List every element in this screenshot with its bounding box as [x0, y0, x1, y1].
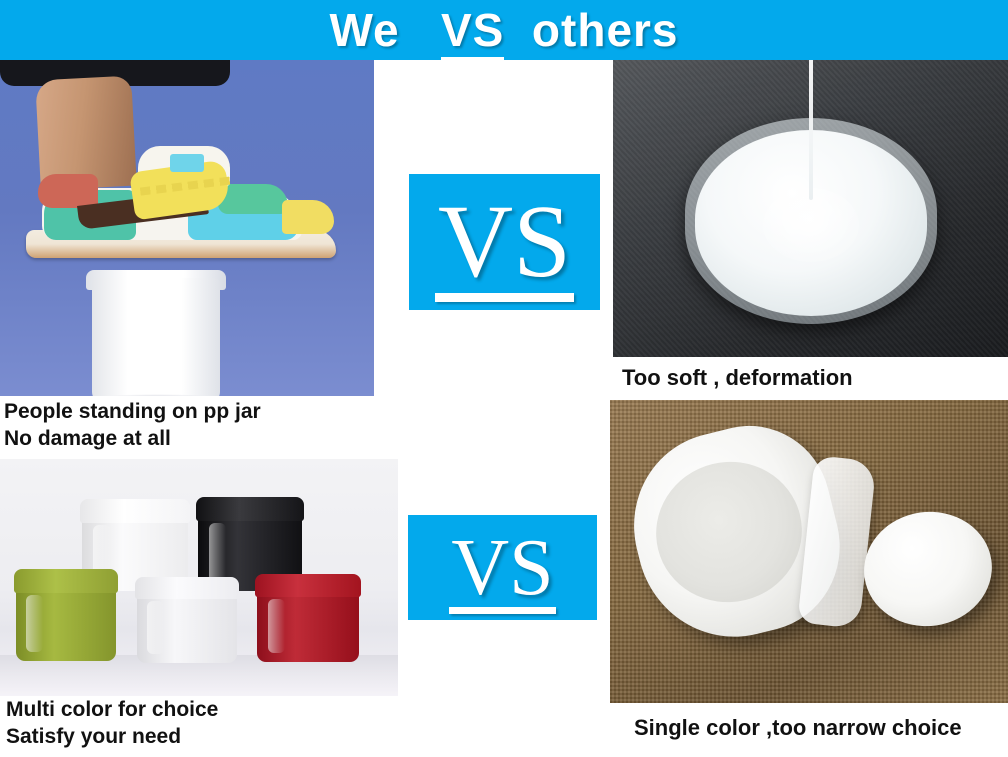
jar-olive	[14, 569, 118, 661]
title-others: others	[532, 4, 679, 56]
jar-red-shine	[268, 599, 285, 654]
sneaker-shape	[20, 152, 340, 268]
center-gutter	[374, 60, 614, 757]
caption-multi-color: Multi color for choice Satisfy your need	[6, 696, 218, 750]
jar-black-shine	[209, 523, 226, 581]
caption-too-soft: Too soft , deformation	[622, 364, 853, 391]
jar-red	[255, 574, 361, 662]
photo-multicolor-jars	[0, 459, 398, 696]
page-title: We VS others	[329, 7, 678, 53]
jar-frosted-shine	[147, 601, 164, 654]
brand-tag	[170, 154, 204, 172]
pp-jar-body	[92, 278, 220, 396]
vs-badge-bottom: VS	[408, 515, 597, 620]
jar-white-lid	[80, 499, 190, 523]
jar-olive-shine	[26, 595, 43, 652]
caption-single-color: Single color ,too narrow choice	[634, 714, 962, 741]
sneaker-green-panel	[218, 184, 288, 214]
jar-black-lid	[196, 497, 304, 521]
jar-frosted-lid	[135, 577, 239, 599]
caption-people-standing: People standing on pp jar No damage at a…	[4, 398, 261, 452]
title-vs: VS	[441, 4, 504, 62]
photo-shoe-on-jar	[0, 60, 374, 396]
title-we: We	[329, 4, 399, 56]
sneaker-yellow-toe	[282, 200, 334, 234]
vs-badge-bottom-label: VS	[451, 532, 553, 604]
jar-frosted	[135, 577, 239, 663]
vs-badge-top: VS	[409, 174, 600, 310]
single-jar-cap	[857, 504, 1000, 635]
sneaker-red-heel	[38, 174, 98, 208]
cream-pour-stream	[809, 60, 813, 200]
jar-olive-lid	[14, 569, 118, 593]
header-banner: We VS others	[0, 0, 1008, 60]
jar-red-lid	[255, 574, 361, 597]
photo-soft-cream	[613, 60, 1008, 357]
vs-badge-top-label: VS	[438, 195, 571, 289]
photo-single-white-jar	[610, 400, 1008, 703]
jar-shadow	[84, 394, 230, 396]
